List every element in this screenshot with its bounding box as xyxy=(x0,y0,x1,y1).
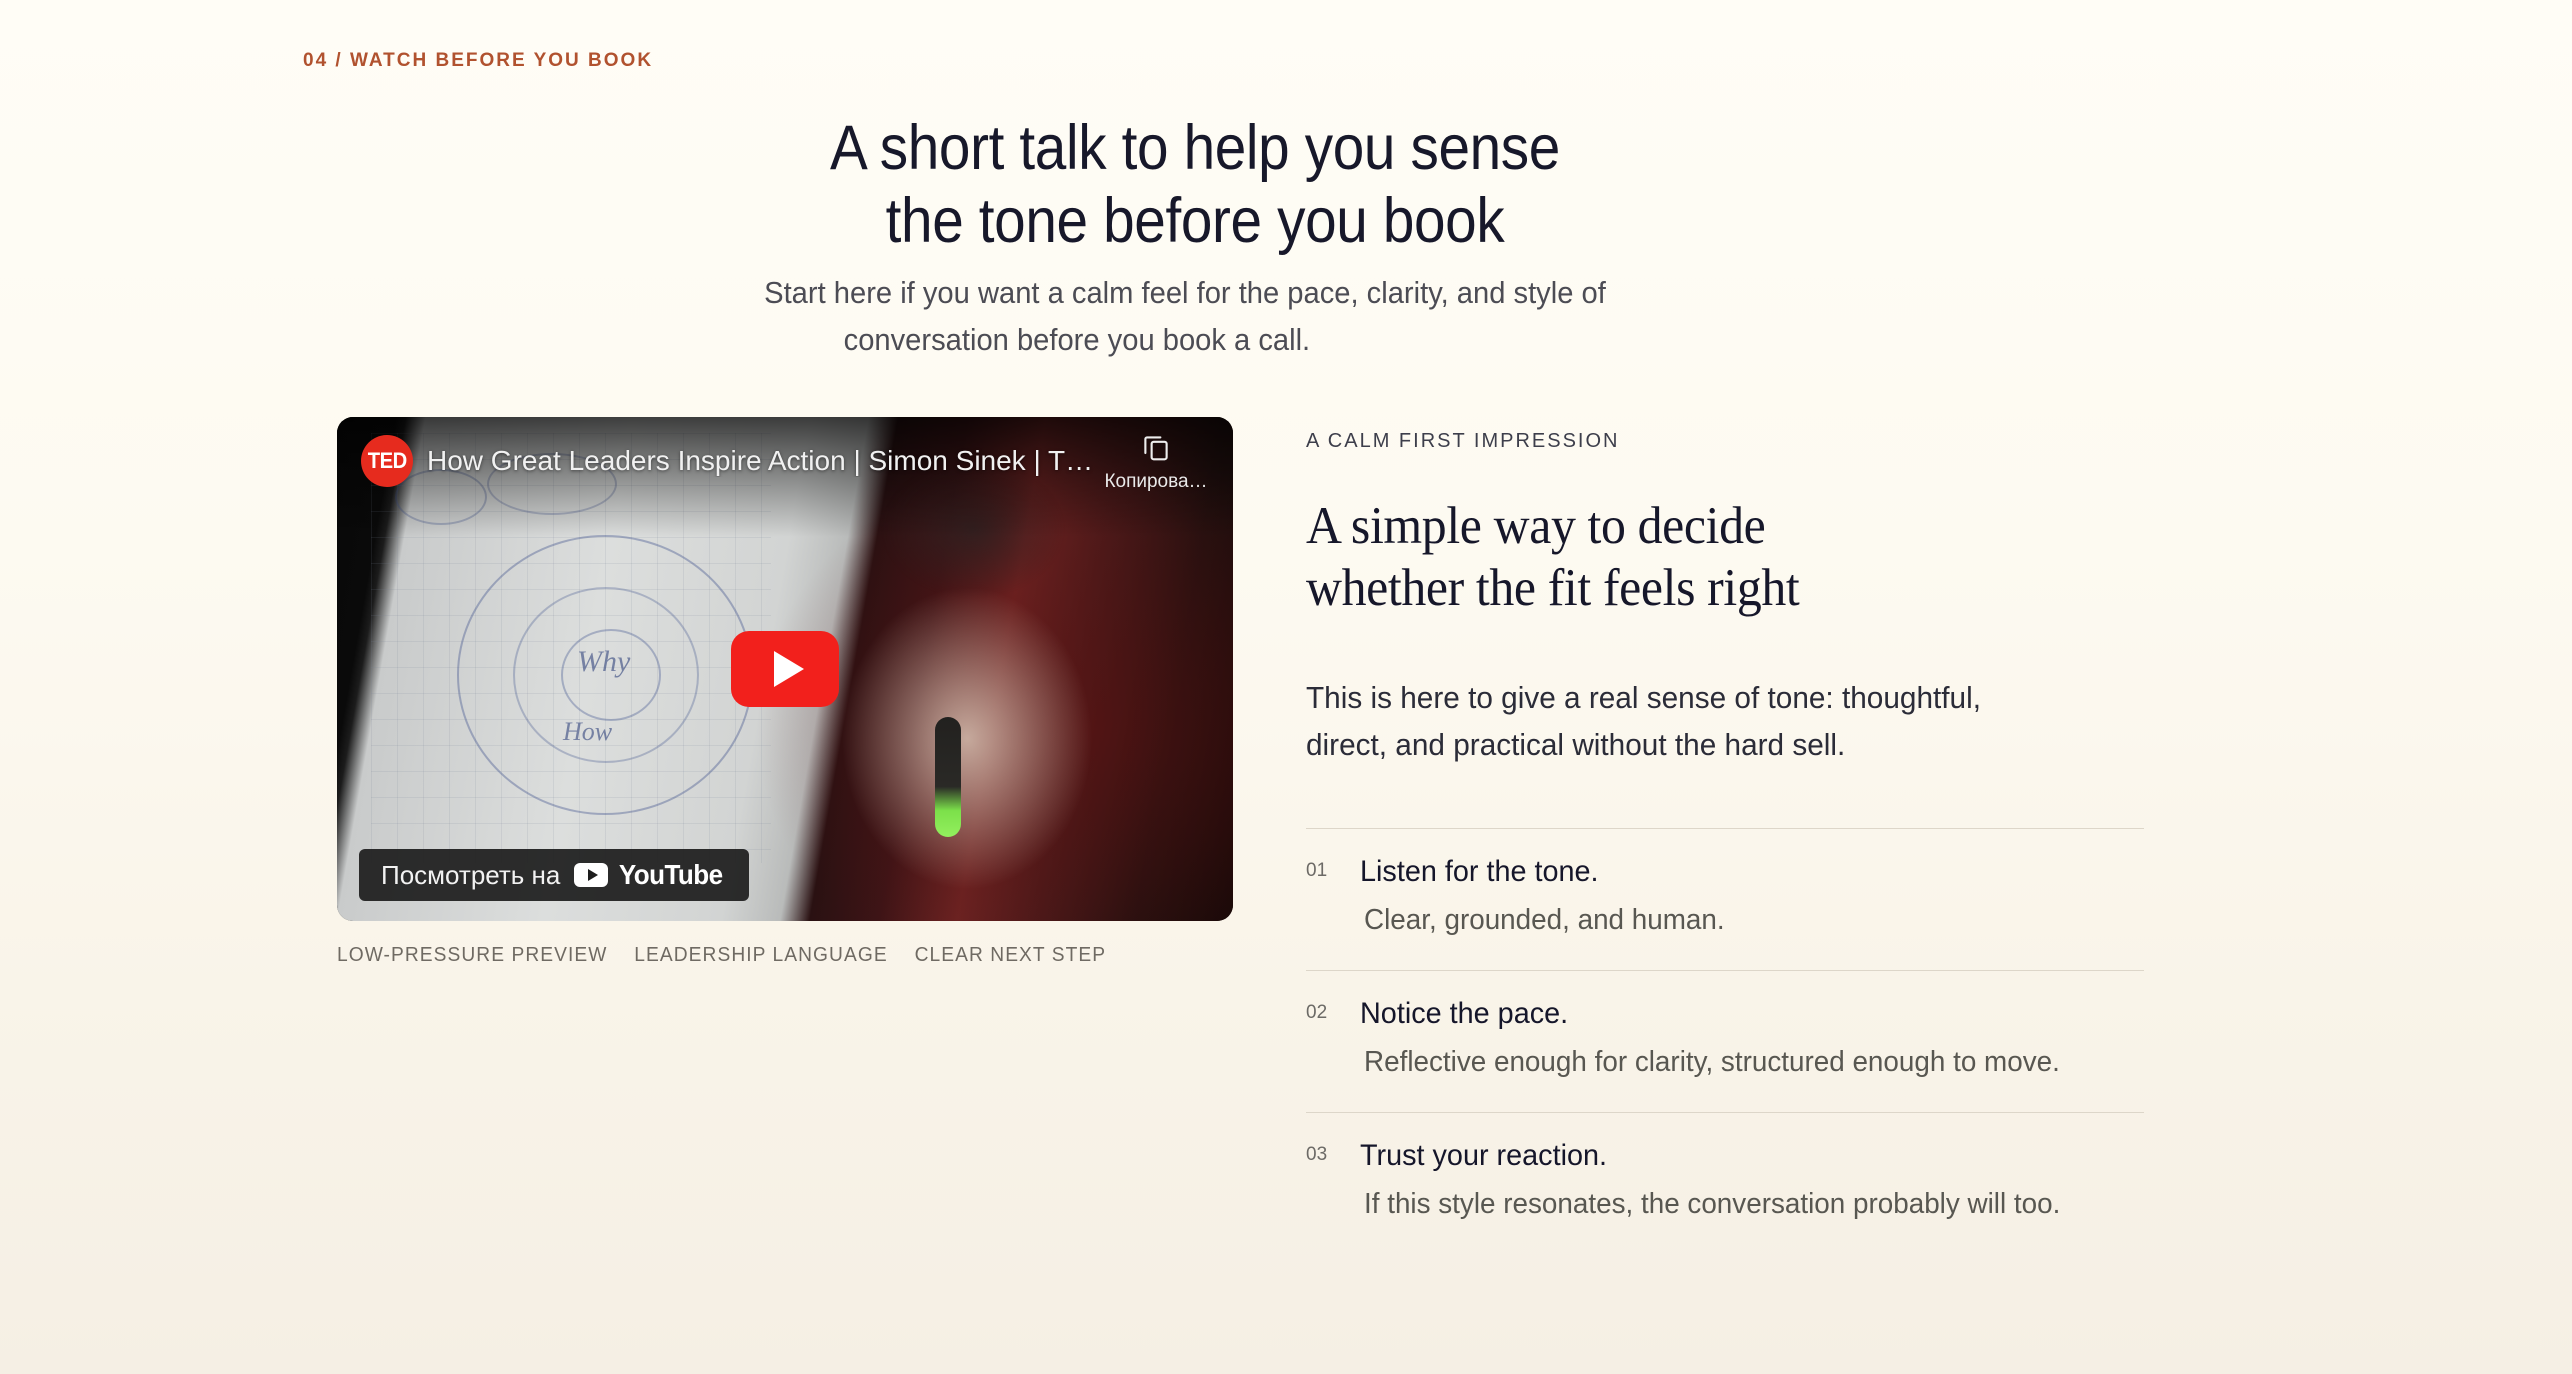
step-number: 02 xyxy=(1306,997,1332,1084)
ted-logo-label: TED xyxy=(367,448,406,474)
tag-item: LEADERSHIP LANGUAGE xyxy=(634,944,887,967)
youtube-video-embed[interactable]: Why How TED How Great Leaders Inspire Ac… xyxy=(337,417,1233,921)
video-top-overlay xyxy=(337,417,1233,537)
list-item: 02 Notice the pace. Reflective enough fo… xyxy=(1306,970,2144,1112)
watch-on-youtube-button[interactable]: Посмотреть на YouTube xyxy=(359,849,749,901)
play-icon xyxy=(774,651,804,687)
youtube-wordmark: YouTube xyxy=(619,859,723,891)
video-tag-list: LOW-PRESSURE PREVIEW LEADERSHIP LANGUAGE… xyxy=(337,944,1106,967)
hero-subtitle-line-1: Start here if you want a calm feel for t… xyxy=(764,275,1606,310)
right-body-line-1: This is here to give a real sense of ton… xyxy=(1306,680,1981,715)
right-heading-line-2: whether the fit feels right xyxy=(1306,557,2094,619)
step-content: Listen for the tone. Clear, grounded, an… xyxy=(1360,855,2144,942)
video-title[interactable]: How Great Leaders Inspire Action | Simon… xyxy=(427,445,1107,477)
ted-logo-icon[interactable]: TED xyxy=(361,435,413,487)
hero-heading-block: A short talk to help you sense the tone … xyxy=(0,112,2390,258)
whiteboard-label-how: How xyxy=(563,717,612,747)
copy-link-label: Копирова… xyxy=(1104,471,1207,492)
right-column: A CALM FIRST IMPRESSION A simple way to … xyxy=(1306,430,2144,1226)
step-description: Reflective enough for clarity, structure… xyxy=(1364,1041,2113,1084)
microphone xyxy=(935,717,961,837)
section-watch-before-you-book: 04 / WATCH BEFORE YOU BOOK A short talk … xyxy=(0,0,2572,1374)
steps-list: 01 Listen for the tone. Clear, grounded,… xyxy=(1306,828,2144,1226)
step-number: 01 xyxy=(1306,855,1332,942)
step-number: 03 xyxy=(1306,1139,1332,1226)
step-description: If this style resonates, the conversatio… xyxy=(1364,1183,2113,1226)
right-body-text: This is here to give a real sense of ton… xyxy=(1306,675,2110,768)
hero-subtitle: Start here if you want a calm feel for t… xyxy=(71,270,2299,363)
youtube-play-icon xyxy=(574,863,608,887)
section-kicker: 04 / WATCH BEFORE YOU BOOK xyxy=(303,50,653,72)
watch-on-youtube-label: Посмотреть на xyxy=(381,860,560,891)
right-eyebrow: A CALM FIRST IMPRESSION xyxy=(1306,430,2144,453)
right-heading: A simple way to decide whether the fit f… xyxy=(1306,495,2094,619)
step-content: Notice the pace. Reflective enough for c… xyxy=(1360,997,2144,1084)
right-body-line-2: direct, and practical without the hard s… xyxy=(1306,722,2110,769)
step-title: Notice the pace. xyxy=(1360,997,2113,1031)
copy-icon xyxy=(1141,433,1171,463)
hero-title-line-1: A short talk to help you sense xyxy=(830,113,1560,183)
right-heading-line-1: A simple way to decide xyxy=(1306,497,1765,555)
tag-item: LOW-PRESSURE PREVIEW xyxy=(337,944,607,967)
hero-subtitle-line-2: conversation before you book a call. xyxy=(0,317,2299,364)
step-title: Trust your reaction. xyxy=(1360,1139,2113,1173)
tag-item: CLEAR NEXT STEP xyxy=(915,944,1107,967)
list-item: 01 Listen for the tone. Clear, grounded,… xyxy=(1306,828,2144,970)
list-item: 03 Trust your reaction. If this style re… xyxy=(1306,1112,2144,1226)
hero-title-line-2: the tone before you book xyxy=(120,185,2271,258)
whiteboard-label-why: Why xyxy=(577,645,630,679)
step-description: Clear, grounded, and human. xyxy=(1364,899,2113,942)
step-content: Trust your reaction. If this style reson… xyxy=(1360,1139,2144,1226)
page-title: A short talk to help you sense the tone … xyxy=(120,112,2271,258)
step-title: Listen for the tone. xyxy=(1360,855,2113,889)
youtube-logo: YouTube xyxy=(574,859,726,891)
play-button[interactable] xyxy=(731,631,839,707)
copy-link-button[interactable]: Копирова… xyxy=(1101,433,1211,493)
